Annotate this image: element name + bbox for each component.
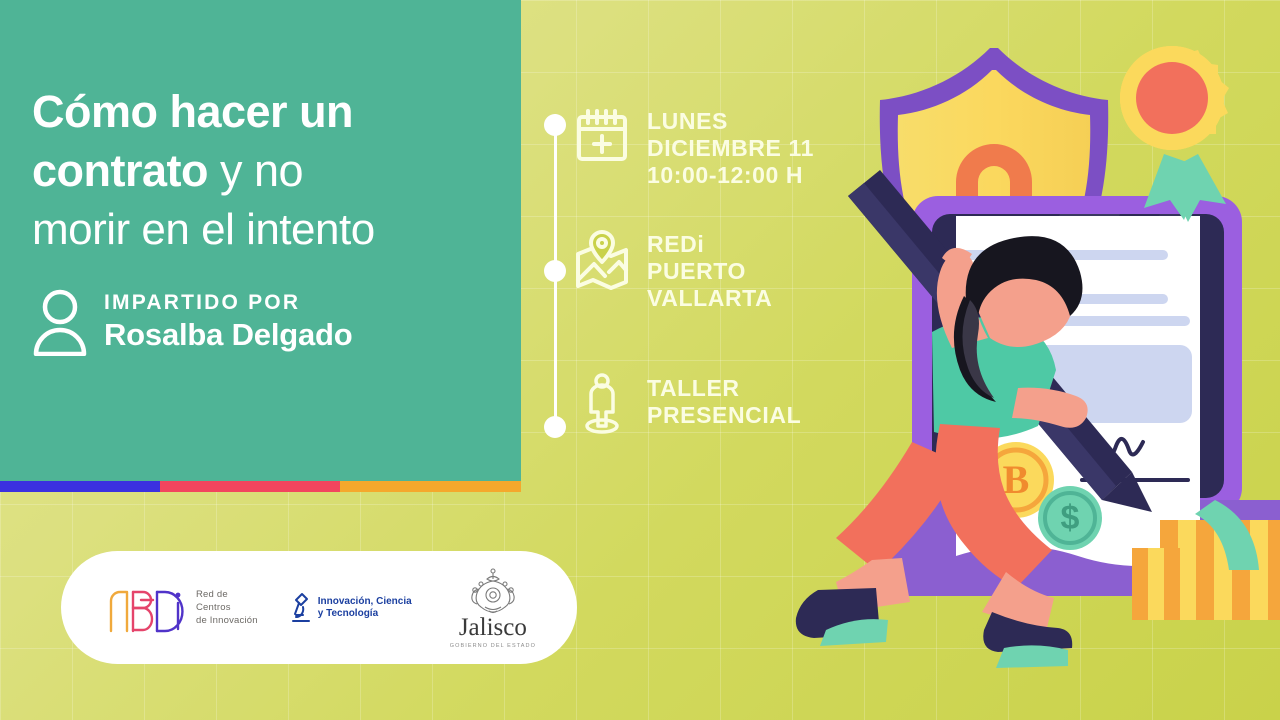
event-details-timeline: LUNES DICIEMBRE 11 10:00-12:00 H: [537, 100, 867, 450]
stripe-segment-pink: [160, 481, 340, 492]
detail-item-format: TALLER PRESENCIAL: [575, 372, 801, 434]
timeline-dot-2: [544, 260, 566, 282]
dollar-coin-icon: $: [1038, 486, 1102, 550]
title-line-2: contrato y no: [32, 141, 502, 200]
jalisco-crest-icon: [467, 567, 519, 615]
title-line-2-light: y no: [208, 145, 303, 196]
redi-caption: Red de Centros de Innovación: [196, 588, 258, 627]
timeline-dot-1: [544, 114, 566, 136]
detail-format-line-1: TALLER: [647, 375, 801, 402]
detail-date-line-2: DICIEMBRE 11: [647, 135, 814, 162]
jalisco-name: Jalisco: [459, 615, 527, 641]
award-seal-icon: [1101, 27, 1243, 222]
speaker-text: IMPARTIDO POR Rosalba Delgado: [104, 291, 353, 353]
logo-redi: Red de Centros de Innovación: [105, 581, 258, 635]
svg-text:$: $: [1061, 499, 1080, 537]
stripe-segment-orange: [340, 481, 521, 492]
detail-location-line-3: VALLARTA: [647, 285, 772, 312]
person-standing-icon: [575, 372, 629, 434]
redi-logo-icon: [105, 581, 187, 635]
redi-caption-line-1: Red de: [196, 588, 258, 601]
speaker-block: IMPARTIDO POR Rosalba Delgado: [32, 288, 353, 356]
svg-text:B: B: [1003, 457, 1030, 502]
title-panel: Cómo hacer un contrato y no morir en el …: [0, 0, 521, 481]
imparted-by-label: IMPARTIDO POR: [104, 291, 353, 315]
detail-date-line-3: 10:00-12:00 H: [647, 162, 814, 189]
color-stripe: [0, 481, 521, 492]
poster: B $: [0, 0, 1280, 720]
logo-bar: Red de Centros de Innovación Inn: [61, 551, 577, 664]
ict-text: Innovación, Ciencia y Tecnología: [318, 596, 412, 620]
logo-innovacion-ciencia-tecnologia: Innovación, Ciencia y Tecnología: [290, 591, 412, 625]
calendar-plus-icon: [575, 105, 629, 167]
map-location-icon: [575, 228, 629, 290]
detail-location-line-1: REDi: [647, 231, 772, 258]
ict-text-line-1: Innovación, Ciencia: [318, 596, 412, 608]
detail-location-lines: REDi PUERTO VALLARTA: [647, 228, 772, 312]
detail-format-line-2: PRESENCIAL: [647, 402, 801, 429]
title-line-3: morir en el intento: [32, 200, 502, 259]
detail-location-line-2: PUERTO: [647, 258, 772, 285]
title-line-1-text: Cómo hacer un: [32, 86, 353, 137]
redi-caption-line-3: de Innovación: [196, 614, 258, 627]
logo-jalisco: Jalisco GOBIERNO DEL ESTADO: [450, 567, 536, 649]
title-line-1: Cómo hacer un: [32, 82, 502, 141]
detail-date-lines: LUNES DICIEMBRE 11 10:00-12:00 H: [647, 105, 814, 189]
timeline-dot-3: [544, 416, 566, 438]
title-line-2-bold: contrato: [32, 145, 208, 196]
detail-format-lines: TALLER PRESENCIAL: [647, 372, 801, 429]
detail-item-location: REDi PUERTO VALLARTA: [575, 228, 772, 312]
speaker-name: Rosalba Delgado: [104, 317, 353, 353]
ict-text-line-2: y Tecnología: [318, 608, 412, 620]
redi-caption-line-2: Centros: [196, 601, 258, 614]
microscope-icon: [290, 591, 312, 625]
jalisco-subtitle: GOBIERNO DEL ESTADO: [450, 643, 536, 649]
page-title: Cómo hacer un contrato y no morir en el …: [32, 82, 502, 259]
detail-item-date: LUNES DICIEMBRE 11 10:00-12:00 H: [575, 105, 814, 189]
stripe-segment-blue: [0, 481, 160, 492]
person-icon: [32, 288, 88, 356]
detail-date-line-1: LUNES: [647, 108, 814, 135]
